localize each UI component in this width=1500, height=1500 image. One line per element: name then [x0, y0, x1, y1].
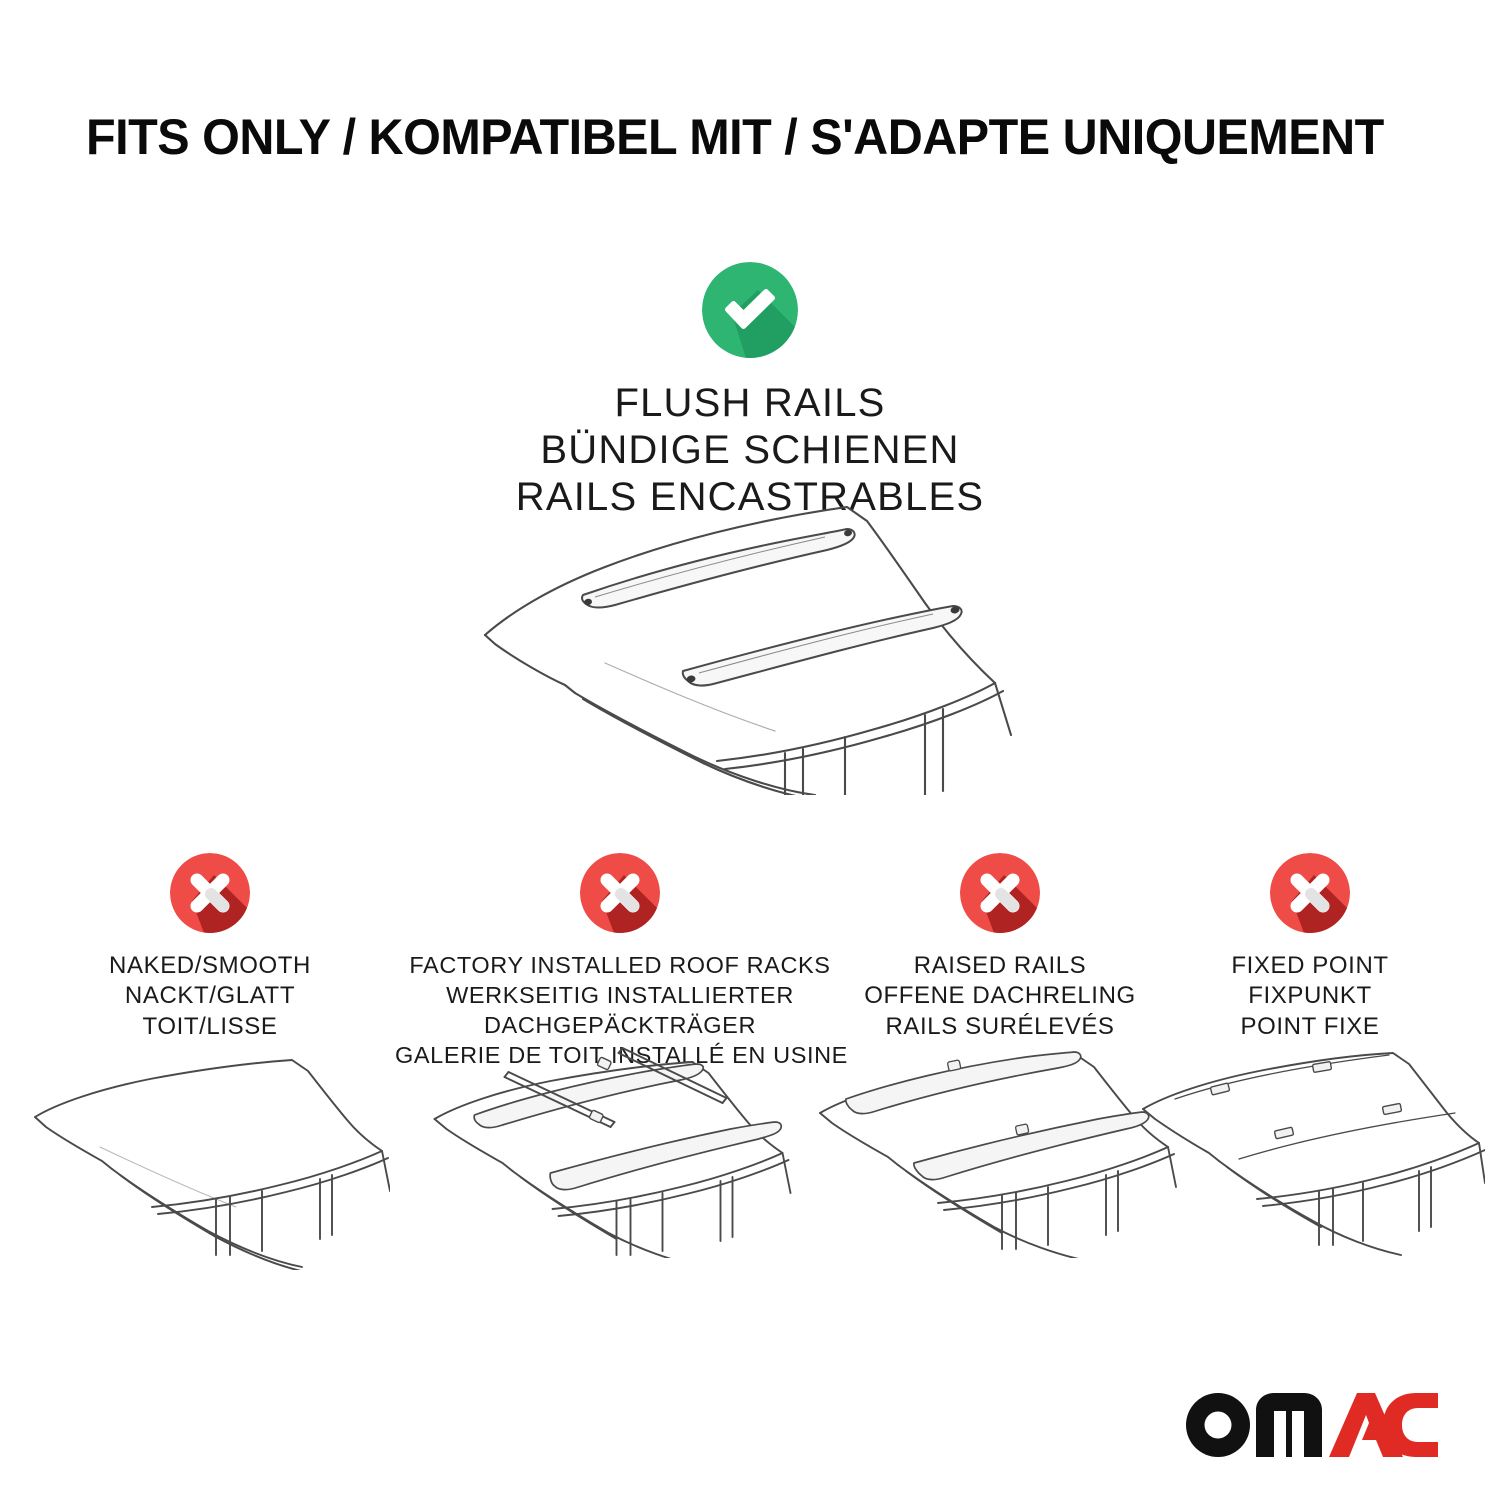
- car-roof-with-raised-rails-illustration: [810, 1043, 1190, 1258]
- incompatible-column-raised-rails: RAISED RAILS OFFENE DACHRELING RAILS SUR…: [835, 845, 1165, 1042]
- cross-circle-icon: [960, 853, 1040, 933]
- label-line: FIXPUNKT: [1160, 981, 1460, 1011]
- compatible-label-de: BÜNDIGE SCHIENEN: [0, 427, 1500, 474]
- label-line: OFFENE DACHRELING: [835, 981, 1165, 1011]
- label-line: DACHGEPÄCKTRÄGER: [395, 1011, 845, 1041]
- cross-circle-icon: [170, 853, 250, 933]
- omac-logo: OMAC: [1186, 1392, 1438, 1458]
- label-line: NACKT/GLATT: [40, 981, 380, 1011]
- label-line: RAISED RAILS: [835, 951, 1165, 981]
- car-roof-with-factory-crossbars-illustration: [423, 1043, 818, 1258]
- label-line: FIXED POINT: [1160, 951, 1460, 981]
- incompatible-column-factory-roof-racks: FACTORY INSTALLED ROOF RACKS WERKSEITIG …: [395, 845, 845, 1070]
- logo-letter-m: [1256, 1393, 1322, 1457]
- incompatible-label-fixed-point: FIXED POINT FIXPUNKT POINT FIXE: [1160, 951, 1460, 1042]
- incompatible-label-raised-rails: RAISED RAILS OFFENE DACHRELING RAILS SUR…: [835, 951, 1165, 1042]
- label-line: RAILS SURÉLEVÉS: [835, 1012, 1165, 1042]
- cross-circle-icon: [1270, 853, 1350, 933]
- label-line: TOIT/LISSE: [40, 1012, 380, 1042]
- logo-letter-o: [1186, 1393, 1250, 1457]
- incompatible-column-naked-smooth: NAKED/SMOOTH NACKT/GLATT TOIT/LISSE: [40, 845, 380, 1042]
- label-line: NAKED/SMOOTH: [40, 951, 380, 981]
- page-title: FITS ONLY / KOMPATIBEL MIT / S'ADAPTE UN…: [86, 108, 1386, 166]
- incompatible-section: NAKED/SMOOTH NACKT/GLATT TOIT/LISSE: [0, 845, 1500, 1315]
- cross-circle-icon: [580, 853, 660, 933]
- compatible-section: FLUSH RAILS BÜNDIGE SCHIENEN RAILS ENCAS…: [0, 262, 1500, 520]
- label-line: POINT FIXE: [1160, 1012, 1460, 1042]
- incompatible-label-naked-smooth: NAKED/SMOOTH NACKT/GLATT TOIT/LISSE: [40, 951, 380, 1042]
- car-roof-with-flush-rails-illustration: [455, 485, 1055, 795]
- check-circle-icon: [702, 262, 798, 358]
- label-line: WERKSEITIG INSTALLIERTER: [395, 981, 845, 1011]
- infographic-page: FITS ONLY / KOMPATIBEL MIT / S'ADAPTE UN…: [0, 0, 1500, 1500]
- incompatible-column-fixed-point: FIXED POINT FIXPUNKT POINT FIXE: [1160, 845, 1460, 1042]
- car-roof-bare-illustration: [30, 1055, 390, 1270]
- compatible-label-en: FLUSH RAILS: [0, 380, 1500, 427]
- label-line: FACTORY INSTALLED ROOF RACKS: [395, 951, 845, 981]
- car-roof-with-fixed-points-illustration: [1135, 1043, 1485, 1258]
